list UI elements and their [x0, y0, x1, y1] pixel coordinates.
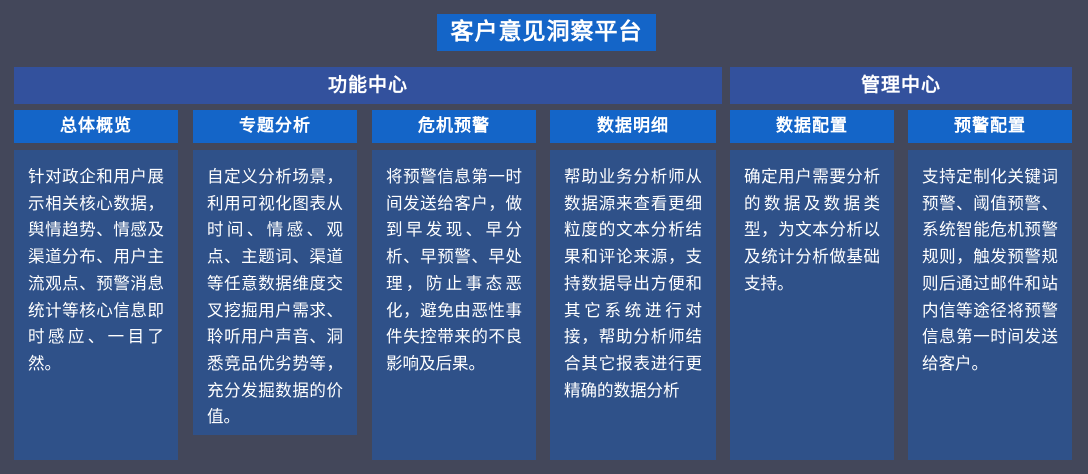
panel-crisis-alert-description: 将预警信息第一时间发送给客户，做到早发现、早分析、早预警、早处理，防止事态恶化，…	[372, 150, 536, 460]
tab-topic-analysis[interactable]: 专题分析	[193, 110, 357, 143]
panel-data-detail-description: 帮助业务分析师从数据源来查看更细粒度的文本分析结果和评论来源，支持数据导出方便和…	[550, 150, 716, 460]
tab-overview[interactable]: 总体概览	[14, 110, 178, 143]
page-title: 客户意见洞察平台	[437, 14, 656, 51]
section-header-management-center: 管理中心	[730, 67, 1072, 104]
tab-crisis-alert[interactable]: 危机预警	[372, 110, 536, 143]
panel-data-config-description: 确定用户需要分析的数据及数据类型，为文本分析以及统计分析做基础支持。	[730, 150, 894, 460]
tab-data-detail[interactable]: 数据明细	[550, 110, 716, 143]
panel-overview-description: 针对政企和用户展示相关核心数据，舆情趋势、情感及渠道分布、用户主流观点、预警消息…	[14, 150, 178, 460]
column-data-config: 数据配置 确定用户需要分析的数据及数据类型，为文本分析以及统计分析做基础支持。	[730, 110, 894, 460]
section-header-function-center: 功能中心	[14, 67, 722, 104]
column-overview: 总体概览 针对政企和用户展示相关核心数据，舆情趋势、情感及渠道分布、用户主流观点…	[14, 110, 178, 460]
panel-alert-config-description: 支持定制化关键词预警、阈值预警、系统智能危机预警规则，触发预警规则后通过邮件和站…	[908, 150, 1072, 460]
tab-alert-config[interactable]: 预警配置	[908, 110, 1072, 143]
column-crisis-alert: 危机预警 将预警信息第一时间发送给客户，做到早发现、早分析、早预警、早处理，防止…	[372, 110, 536, 460]
column-topic-analysis: 专题分析 自定义分析场景，利用可视化图表从时间、情感、观点、主题词、渠道等任意数…	[193, 110, 357, 435]
column-alert-config: 预警配置 支持定制化关键词预警、阈值预警、系统智能危机预警规则，触发预警规则后通…	[908, 110, 1072, 460]
tab-data-config[interactable]: 数据配置	[730, 110, 894, 143]
column-data-detail: 数据明细 帮助业务分析师从数据源来查看更细粒度的文本分析结果和评论来源，支持数据…	[550, 110, 716, 460]
platform-overview-diagram: 客户意见洞察平台 功能中心 管理中心 总体概览 针对政企和用户展示相关核心数据，…	[0, 0, 1088, 474]
panel-topic-analysis-description: 自定义分析场景，利用可视化图表从时间、情感、观点、主题词、渠道等任意数据维度交叉…	[193, 150, 357, 435]
